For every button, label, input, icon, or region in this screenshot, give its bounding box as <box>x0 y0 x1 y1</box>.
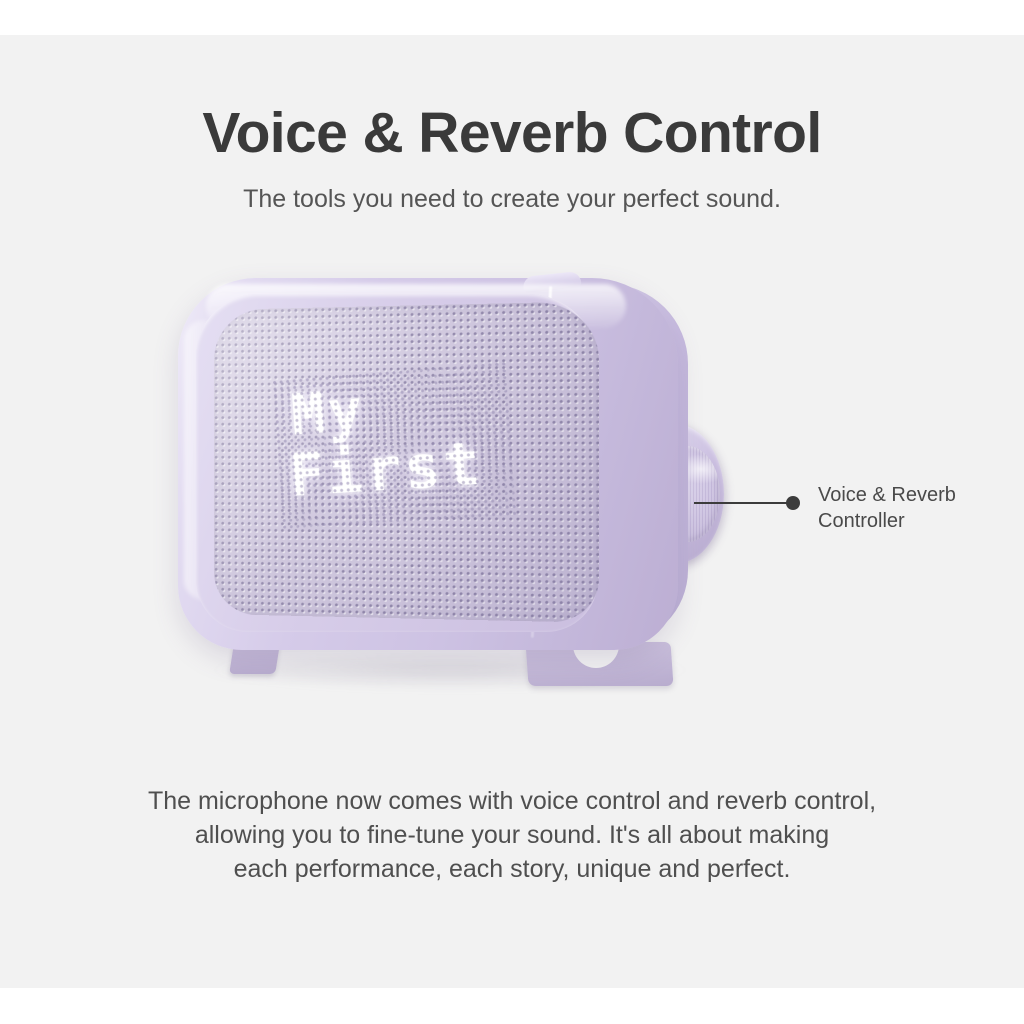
description-line-2: allowing you to fine-tune your sound. It… <box>0 819 1024 853</box>
callout-label-line1: Voice & Reverb <box>818 482 956 508</box>
description-line-1: The microphone now comes with voice cont… <box>0 785 1024 819</box>
callout-leader-line <box>694 502 790 504</box>
callout-label: Voice & Reverb Controller <box>818 482 956 534</box>
callout-label-line2: Controller <box>818 508 956 534</box>
description-line-3: each performance, each story, unique and… <box>0 853 1024 887</box>
description-text: The microphone now comes with voice cont… <box>0 785 1024 886</box>
led-display: My First <box>283 373 507 520</box>
callout-dot <box>786 496 800 510</box>
page-title: Voice & Reverb Control <box>0 105 1024 162</box>
marketing-slide: Voice & Reverb Control The tools you nee… <box>0 0 1024 1024</box>
page-subtitle: The tools you need to create your perfec… <box>0 184 1024 215</box>
led-display-line2: First <box>288 434 507 504</box>
